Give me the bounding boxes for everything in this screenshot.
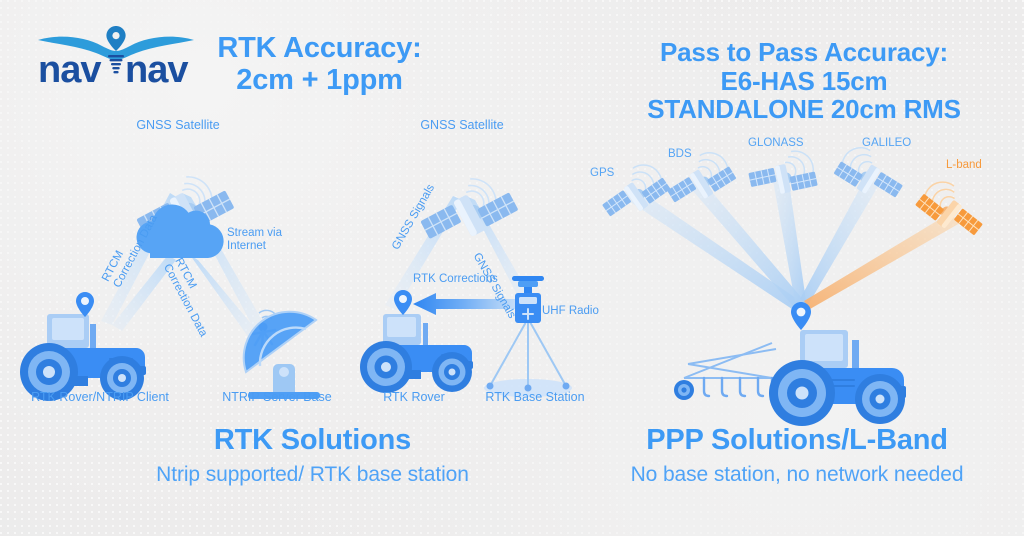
tractor-rear-wheel [769, 360, 835, 426]
right-caption-block: PPP Solutions/L-Band No base station, no… [570, 424, 1024, 487]
logo-wordmark-left: nav [38, 49, 101, 91]
tractor-front-wheel [432, 352, 472, 392]
seeder-implement-icon [674, 343, 777, 400]
brand-logo[interactable]: nav nav [36, 26, 196, 88]
satellite-icon-galileo [833, 140, 909, 208]
right-caption-title: PPP Solutions/L-Band [570, 424, 1024, 457]
diagram-ppp-lband: GPS BDS GLONASS GALILEO L-band [576, 135, 1024, 410]
right-headline: Pass to Pass Accuracy: E6-HAS 15cm STAND… [600, 38, 1008, 124]
tractor-icon [769, 330, 906, 426]
tractor-icon [360, 314, 473, 393]
left-headline-line-2: 2cm + 1ppm [212, 65, 427, 97]
stream-line-1: Stream via [227, 227, 317, 240]
label-rtk-corrections: RTK Corrections [413, 273, 498, 286]
label-constellation-bds: BDS [668, 148, 692, 160]
left-caption-block: RTK Solutions Ntrip supported/ RTK base … [60, 424, 565, 487]
satellite-icon-glonass [746, 148, 818, 200]
left-caption-subtitle: Ntrip supported/ RTK base station [60, 463, 565, 487]
label-constellation-glonass: GLONASS [748, 137, 804, 149]
tractor-icon [20, 314, 146, 401]
label-constellation-lband: L-band [946, 159, 982, 171]
tractor-rear-wheel [360, 341, 412, 393]
label-constellation-galileo: GALILEO [862, 137, 911, 149]
label-stream-via-internet: Stream via Internet [227, 227, 317, 253]
logo-wordmark-right: nav [125, 49, 188, 91]
right-headline-line-1: Pass to Pass Accuracy: [600, 38, 1008, 67]
diagram-rtk-ntrip: GNSS Satellite Stream via Internet RTCM … [0, 118, 345, 408]
map-pin-icon [394, 290, 412, 315]
infographic-canvas: nav nav RTK Accuracy: 2cm + 1ppm Pass to… [0, 0, 1024, 536]
left-headline-line-1: RTK Accuracy: [212, 33, 427, 65]
right-headline-line-3: STANDALONE 20cm RMS [600, 95, 1008, 124]
label-rtk-rover-ntrip-client: RTK Rover/NTRIP Client [0, 390, 200, 404]
tractor-front-wheel [855, 374, 905, 424]
label-rtk-rover-b: RTK Rover [350, 390, 478, 404]
logo-pin-icon [106, 26, 125, 51]
right-caption-subtitle: No base station, no network needed [570, 463, 1024, 487]
diagram-rtk-uhf: GNSS Satellite GNSS Signals GNSS Signals… [350, 118, 600, 408]
left-caption-title: RTK Solutions [60, 424, 565, 457]
left-headline: RTK Accuracy: 2cm + 1ppm [212, 33, 427, 97]
right-headline-line-2: E6-HAS 15cm [600, 67, 1008, 96]
navinav-logo-icon: nav nav [36, 26, 196, 88]
label-constellation-gps: GPS [590, 167, 614, 179]
stream-line-2: Internet [227, 240, 317, 253]
label-ntrip-server-base: NTRIP Server Base [207, 390, 347, 404]
label-gnss-satellite-a: GNSS Satellite [108, 118, 248, 132]
map-pin-icon [76, 292, 94, 317]
label-gnss-satellite-b: GNSS Satellite [392, 118, 532, 132]
map-pin-icon [791, 302, 811, 330]
